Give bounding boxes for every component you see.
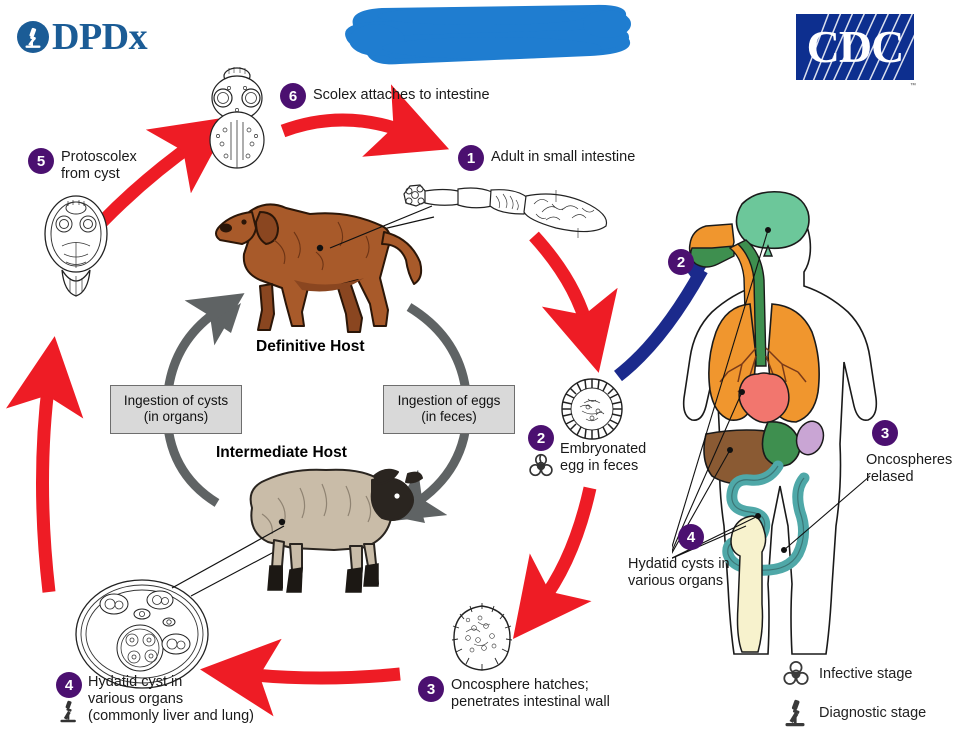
step-2-label: 2 Embryonated egg in feces [528, 425, 646, 479]
human-step-3-label: 3 Oncospheres relased [872, 420, 952, 486]
oncosphere-illustration [448, 600, 516, 672]
step-5-text: Protoscolex from cyst [61, 149, 137, 183]
human-step-4-text: Hydatid cysts in various organs [628, 556, 730, 590]
microscope-icon [782, 698, 810, 728]
step-6-text: Scolex attaches to intestine [313, 87, 490, 104]
ingestion-of-cysts-box: Ingestion of cysts (in organs) [110, 385, 242, 434]
legend-item-diagnostic: Diagnostic stage [782, 698, 926, 728]
sheep-leader-line [170, 522, 290, 592]
protoscolex-illustration [40, 192, 112, 300]
human-step-2-badge: 2 [668, 249, 694, 275]
human-step-4-label: 4 Hydatid cysts in various organs [660, 524, 730, 590]
step-4-badge: 4 [56, 672, 82, 698]
step-4-label: 4 Hydatid cyst in various organs (common… [56, 672, 254, 725]
step-6-badge: 6 [280, 83, 306, 109]
human-step-3-text: Oncospheres relased [866, 452, 952, 486]
step-2-badge: 2 [528, 425, 554, 451]
step-5-badge: 5 [28, 148, 54, 174]
step-6-label: 6 Scolex attaches to intestine [280, 83, 490, 109]
step-5-label: 5 Protoscolex from cyst [28, 148, 137, 183]
cdc-logo[interactable]: CDC ™ [796, 14, 914, 80]
step-1-text: Adult in small intestine [491, 149, 635, 166]
definitive-host-caption: Definitive Host [256, 338, 365, 356]
legend: Infective stage Diagnostic stage [782, 660, 926, 738]
biohazard-icon [528, 453, 554, 479]
step-3-badge: 3 [418, 676, 444, 702]
dog-leader-line [326, 200, 436, 256]
cdc-logo-box: CDC [796, 14, 914, 80]
step-3-text: Oncosphere hatches; penetrates intestina… [451, 677, 610, 711]
human-step-2-badge-wrap: 2 [668, 249, 694, 275]
intermediate-host-caption: Intermediate Host [216, 444, 347, 462]
step-1-label: 1 Adult in small intestine [458, 145, 635, 171]
step-3-label: 3 Oncosphere hatches; penetrates intesti… [418, 676, 610, 711]
step-2-text: Embryonated egg in feces [560, 441, 646, 475]
step-4-text: Hydatid cyst in various organs (commonly… [88, 674, 254, 724]
legend-label-diagnostic: Diagnostic stage [819, 705, 926, 721]
ingestion-of-eggs-box: Ingestion of eggs (in feces) [383, 385, 515, 434]
legend-item-infective: Infective stage [782, 660, 926, 688]
step-1-badge: 1 [458, 145, 484, 171]
life-cycle-diagram: DPDx [0, 0, 965, 753]
microscope-icon [57, 699, 81, 725]
human-step-3-badge: 3 [872, 420, 898, 446]
cdc-wordmark: CDC [796, 14, 914, 80]
legend-label-infective: Infective stage [819, 666, 913, 682]
human-step-4-badge: 4 [678, 524, 704, 550]
biohazard-icon [782, 660, 810, 688]
scolex-illustration [198, 64, 276, 172]
